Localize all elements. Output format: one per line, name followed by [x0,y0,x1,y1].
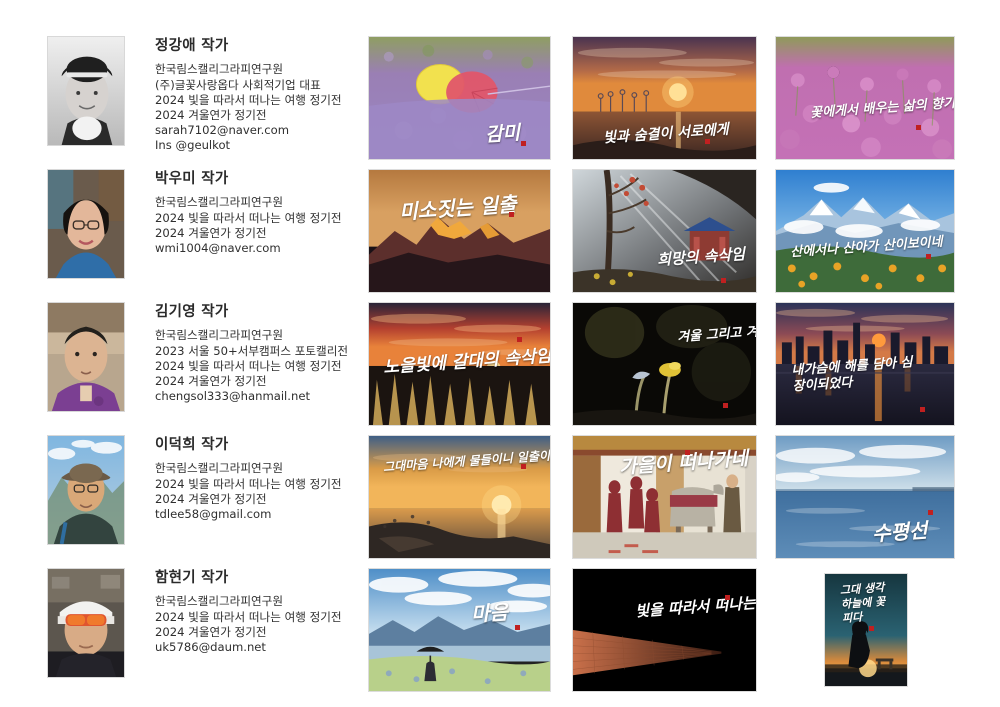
artwork-thumbnail[interactable]: 수평선 [775,435,955,559]
artist-row: 함현기 작가 한국림스캘리그라피연구원 2024 빛을 따라서 떠나는 여행 정… [0,559,1000,692]
artwork-thumbnail[interactable]: 미소짓는 일출 [368,169,551,293]
artist-seal-icon [723,403,728,408]
artist-email: wmi1004@naver.com [155,241,342,256]
artist-profile: 박우미 작가 한국림스캘리그라피연구원 2024 빛을 따라서 떠나는 여행 정… [47,169,342,279]
artwork-thumbnail[interactable]: 가을이 떠나가네 [572,435,757,559]
artist-credit-line: 2024 빛을 따라서 떠나는 여행 정기전 [155,610,342,625]
artist-profile: 함현기 작가 한국림스캘리그라피연구원 2024 빛을 따라서 떠나는 여행 정… [47,568,342,678]
artwork-thumbnail[interactable]: 그대 생각 하늘에 꽃 피다 [824,573,908,687]
artist-name: 이덕희 작가 [155,437,342,454]
artist-credit-line: 2024 빛을 따라서 떠나는 여행 정기전 [155,477,342,492]
artist-row: 김기영 작가 한국림스캘리그라피연구원 2023 서울 50+서부캠퍼스 포토캘… [0,293,1000,426]
artist-seal-icon [521,141,526,146]
artwork-thumbnail[interactable]: 노을빛에 갈대의 속삭임 [368,302,551,426]
artist-seal-icon [705,139,710,144]
artist-portrait-photo [47,435,125,545]
artist-seal-icon [721,278,726,283]
artist-roster-page: 정강애 작가 한국림스캘리그라피연구원 (주)글꽃사랑옵다 사회적기업 대표 2… [0,0,1000,707]
artist-profile: 김기영 작가 한국림스캘리그라피연구원 2023 서울 50+서부캠퍼스 포토캘… [47,302,348,412]
artist-profile: 이덕희 작가 한국림스캘리그라피연구원 2024 빛을 따라서 떠나는 여행 정… [47,435,342,545]
artist-name: 정강애 작가 [155,38,342,55]
artist-credit-line: 2024 겨울연가 정기전 [155,374,348,389]
artist-text-block: 함현기 작가 한국림스캘리그라피연구원 2024 빛을 따라서 떠나는 여행 정… [155,568,342,655]
artwork-thumbnail[interactable]: 내가슴에 해를 담아 심장이되었다 [775,302,955,426]
artist-seal-icon [928,510,933,515]
artwork-thumbnail[interactable]: 그대마음 나에게 물들이니 일출이라 [368,435,551,559]
artist-text-block: 정강애 작가 한국림스캘리그라피연구원 (주)글꽃사랑옵다 사회적기업 대표 2… [155,36,342,154]
artist-row: 박우미 작가 한국림스캘리그라피연구원 2024 빛을 따라서 떠나는 여행 정… [0,160,1000,293]
artist-seal-icon [509,212,514,217]
artwork-thumbnail[interactable]: 빛과 숨결이 서로에게 [572,36,757,160]
artist-instagram: Ins @geulkot [155,138,342,153]
artist-email: chengsol333@hanmail.net [155,389,348,404]
artist-credit-line: 2024 겨울연가 정기전 [155,108,342,123]
artist-credit-line: 한국림스캘리그라피연구원 [155,62,342,77]
artwork-thumbnail[interactable]: 마음 [368,568,551,692]
artist-email: sarah7102@naver.com [155,123,342,138]
artist-seal-icon [517,337,522,342]
artist-credit-line: 한국림스캘리그라피연구원 [155,594,342,609]
artist-seal-icon [920,407,925,412]
artist-text-block: 이덕희 작가 한국림스캘리그라피연구원 2024 빛을 따라서 떠나는 여행 정… [155,435,342,522]
artwork-thumbnail[interactable]: 겨울 그리고 겨울 봄을 품다 [572,302,757,426]
artist-email: tdlee58@gmail.com [155,507,342,522]
artist-portrait-photo [47,36,125,146]
artist-name: 김기영 작가 [155,304,348,321]
artist-seal-icon [521,464,526,469]
artist-seal-icon [916,125,921,130]
artwork-thumbnail[interactable]: 산에서나 산아가 산이보이네 [775,169,955,293]
artist-credit-line: 한국림스캘리그라피연구원 [155,195,342,210]
artist-seal-icon [926,254,931,259]
artist-email: uk5786@daum.net [155,640,342,655]
artist-text-block: 김기영 작가 한국림스캘리그라피연구원 2023 서울 50+서부캠퍼스 포토캘… [155,302,348,404]
artist-row: 정강애 작가 한국림스캘리그라피연구원 (주)글꽃사랑옵다 사회적기업 대표 2… [0,27,1000,160]
artwork-thumbnail[interactable]: 희망의 속삭임 [572,169,757,293]
artist-credit-line: 2024 겨울연가 정기전 [155,625,342,640]
artist-text-block: 박우미 작가 한국림스캘리그라피연구원 2024 빛을 따라서 떠나는 여행 정… [155,169,342,256]
artwork-thumbnail[interactable]: 빛을 따라서 떠나는 여행 [572,568,757,692]
artwork-thumbnail[interactable]: 감미 [368,36,551,160]
artist-credit-line: 한국림스캘리그라피연구원 [155,328,348,343]
artist-seal-icon [515,625,520,630]
artwork-thumbnail[interactable]: 꽃에게서 배우는 삶의 향기 [775,36,955,160]
artist-profile: 정강애 작가 한국림스캘리그라피연구원 (주)글꽃사랑옵다 사회적기업 대표 2… [47,36,342,154]
artist-credit-line: 2024 겨울연가 정기전 [155,226,342,241]
artist-portrait-photo [47,302,125,412]
artist-credit-line: 2024 빛을 따라서 떠나는 여행 정기전 [155,359,348,374]
artist-portrait-photo [47,169,125,279]
artist-name: 박우미 작가 [155,171,342,188]
artist-row: 이덕희 작가 한국림스캘리그라피연구원 2024 빛을 따라서 떠나는 여행 정… [0,426,1000,559]
artist-portrait-photo [47,568,125,678]
artist-seal-icon [685,450,690,455]
artist-credit-line: 한국림스캘리그라피연구원 [155,461,342,476]
artist-credit-line: 2024 빛을 따라서 떠나는 여행 정기전 [155,93,342,108]
artist-seal-icon [725,595,730,600]
artist-credit-line: 2024 겨울연가 정기전 [155,492,342,507]
artist-seal-icon [869,626,874,631]
artist-name: 함현기 작가 [155,570,342,587]
artist-credit-line: 2023 서울 50+서부캠퍼스 포토캘리전 [155,344,348,359]
artist-credit-line: (주)글꽃사랑옵다 사회적기업 대표 [155,78,342,93]
artist-credit-line: 2024 빛을 따라서 떠나는 여행 정기전 [155,211,342,226]
